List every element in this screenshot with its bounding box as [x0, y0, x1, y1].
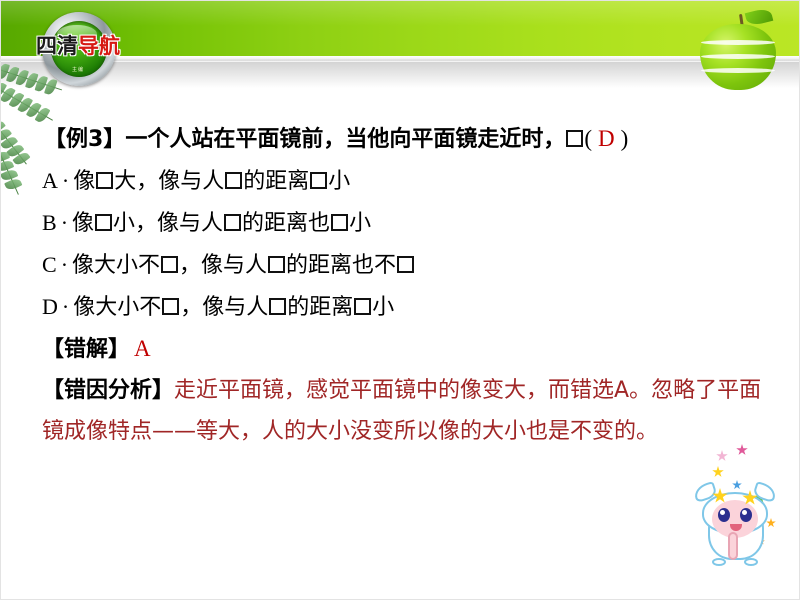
blank-box-icon	[331, 214, 348, 231]
apple-slice-line	[701, 40, 775, 45]
blank-box-icon	[224, 214, 241, 231]
mascot-decoration	[690, 440, 794, 570]
apple-icon	[700, 14, 776, 90]
blank-box-icon	[96, 172, 113, 189]
question-line: 【例3】一个人站在平面镜前，当他向平面镜走近时，(D)	[36, 118, 776, 160]
mascot-eye-right	[740, 508, 752, 522]
option-separator: ·	[58, 294, 73, 319]
mascot-arm	[728, 532, 738, 560]
option-key-a: A	[42, 168, 58, 193]
blank-box-icon	[354, 298, 371, 315]
question-stem: 一个人站在平面镜前，当他向平面镜走近时，	[125, 127, 565, 152]
logo-wordmark: 四清导航	[26, 36, 130, 57]
option-text-a-4: 小	[328, 169, 350, 194]
paren-close: )	[621, 126, 629, 151]
option-key-c: C	[42, 252, 57, 277]
option-text-b-2: 小，像与人	[113, 211, 223, 236]
blank-box-icon	[162, 298, 179, 315]
option-row-c[interactable]: C·像大小不，像与人的距离也不	[36, 244, 776, 286]
option-text-c-1: 像大小不	[72, 253, 160, 278]
option-text-d-2: ，像与人	[180, 295, 268, 320]
blank-box-icon	[397, 256, 414, 273]
option-key-b: B	[42, 210, 57, 235]
logo-text-red: 导航	[78, 34, 120, 58]
option-text-a-1: 像	[73, 169, 95, 194]
mascot-foot-right	[744, 558, 758, 566]
slide-body: 【例3】一个人站在平面镜前，当他向平面镜走近时，(D) A·像大，像与人的距离小…	[36, 118, 776, 452]
analysis-label: 【错因分析】	[42, 378, 174, 403]
wrong-answer-value: A	[130, 336, 151, 361]
wrong-answer-row: 【错解】A	[36, 328, 776, 370]
option-row-a[interactable]: A·像大，像与人的距离小	[36, 160, 776, 202]
correct-answer: D	[592, 126, 621, 151]
option-separator: ·	[58, 168, 73, 193]
option-row-b[interactable]: B·像小，像与人的距离也小	[36, 202, 776, 244]
mascot-foot-left	[712, 558, 726, 566]
question-label: 【例3】	[44, 127, 125, 152]
option-text-d-4: 小	[372, 295, 394, 320]
paren-open: (	[584, 126, 592, 151]
wrong-answer-label: 【错解】	[42, 337, 130, 362]
option-separator: ·	[57, 210, 72, 235]
mascot-eye-left	[718, 508, 730, 522]
option-text-b-1: 像	[72, 211, 94, 236]
option-text-a-3: 的距离	[243, 169, 309, 194]
logo-text-black: 四清	[36, 34, 78, 58]
blank-box-icon	[95, 214, 112, 231]
option-text-c-2: ，像与人	[179, 253, 267, 278]
analysis-row: 【错因分析】走近平面镜，感觉平面镜中的像变大，而错选A。忽略了平面镜成像特点——…	[36, 370, 778, 452]
option-text-a-2: 大，像与人	[114, 169, 224, 194]
option-text-d-1: 像大小不	[73, 295, 161, 320]
blank-box-icon	[269, 298, 286, 315]
blank-box-icon	[268, 256, 285, 273]
option-text-b-3: 的距离也	[242, 211, 330, 236]
blank-box-icon	[225, 172, 242, 189]
option-text-b-4: 小	[349, 211, 371, 236]
blank-box-icon	[161, 256, 178, 273]
blank-box-icon	[566, 130, 583, 147]
option-text-c-3: 的距离也不	[286, 253, 396, 278]
slide-canvas: 主编 四清导航 【例3】一个人站在平面镜前，当他向平面镜走近时，(D) A·像大…	[0, 0, 800, 600]
option-text-d-3: 的距离	[287, 295, 353, 320]
option-key-d: D	[42, 294, 58, 319]
apple-slice-line	[701, 54, 775, 59]
option-row-d[interactable]: D·像大小不，像与人的距离小	[36, 286, 776, 328]
blank-box-icon	[310, 172, 327, 189]
apple-slice-line	[701, 68, 775, 73]
option-separator: ·	[57, 252, 72, 277]
